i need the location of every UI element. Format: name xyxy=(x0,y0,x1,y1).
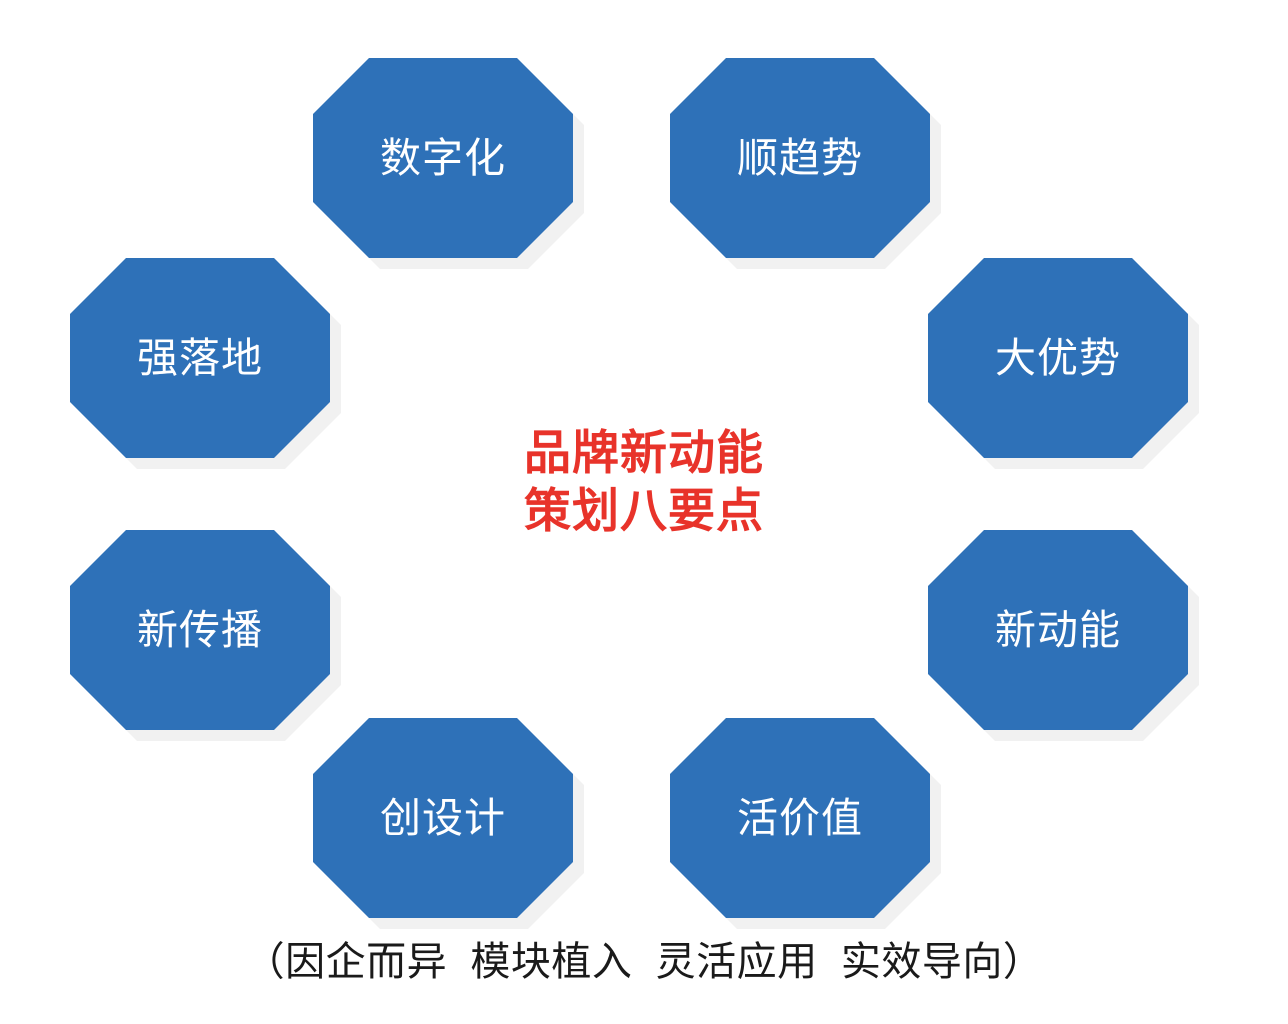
octagon-label: 强落地 xyxy=(137,338,263,379)
octagon-label: 顺趋势 xyxy=(737,138,863,179)
octagon-face: 新动能 xyxy=(928,530,1188,730)
octagon-node-follow-trend[interactable]: 顺趋势 xyxy=(670,58,930,258)
octagon-node-new-spread[interactable]: 新传播 xyxy=(70,530,330,730)
octagon-label: 新动能 xyxy=(995,610,1121,651)
octagon-label: 活价值 xyxy=(737,798,863,839)
bottom-caption: （因企而异 模块植入 灵活应用 实效导向） xyxy=(0,936,1288,988)
octagon-label: 大优势 xyxy=(995,338,1121,379)
octagon-face: 大优势 xyxy=(928,258,1188,458)
octagon-label: 新传播 xyxy=(137,610,263,651)
octagon-face: 新传播 xyxy=(70,530,330,730)
octagon-face: 数字化 xyxy=(313,58,573,258)
octagon-node-live-value[interactable]: 活价值 xyxy=(670,718,930,918)
slide-canvas: 数字化 顺趋势 强落地 大优势 新传播 新动能 创设计 xyxy=(0,0,1288,1024)
octagon-label: 创设计 xyxy=(380,798,506,839)
octagon-face: 活价值 xyxy=(670,718,930,918)
octagon-label: 数字化 xyxy=(380,138,506,179)
octagon-node-creative-design[interactable]: 创设计 xyxy=(313,718,573,918)
octagon-face: 顺趋势 xyxy=(670,58,930,258)
octagon-node-strong-landing[interactable]: 强落地 xyxy=(70,258,330,458)
octagon-node-big-advantage[interactable]: 大优势 xyxy=(928,258,1188,458)
octagon-face: 强落地 xyxy=(70,258,330,458)
octagon-node-digitalization[interactable]: 数字化 xyxy=(313,58,573,258)
octagon-face: 创设计 xyxy=(313,718,573,918)
octagon-node-new-momentum[interactable]: 新动能 xyxy=(928,530,1188,730)
